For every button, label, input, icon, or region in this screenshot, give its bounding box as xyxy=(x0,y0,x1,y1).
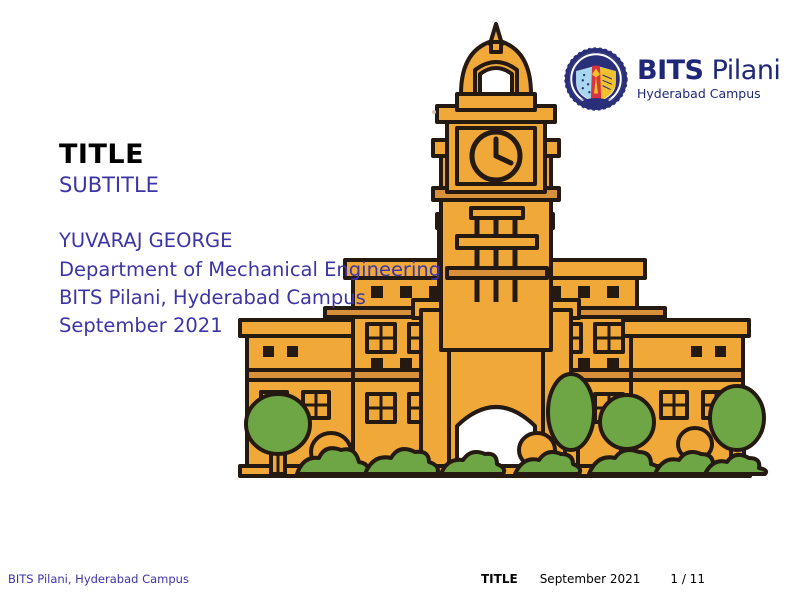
author-block: YUVARAJ GEORGE Department of Mechanical … xyxy=(59,227,479,340)
logo-wordmark: BITS Pilani Hyderabad Campus xyxy=(637,57,780,101)
footer-title: TITLE xyxy=(481,572,518,586)
footer-page-number: 1 / 11 xyxy=(670,572,705,586)
author-name: YUVARAJ GEORGE xyxy=(59,227,479,255)
logo-brand-pilani: Pilani xyxy=(704,55,781,86)
footer-date: September 2021 xyxy=(540,572,641,586)
page-title: TITLE xyxy=(59,140,479,169)
logo-brand-line: BITS Pilani xyxy=(637,57,780,84)
page-subtitle: SUBTITLE xyxy=(59,172,479,198)
logo-brand-bits: BITS xyxy=(637,55,704,86)
title-block: TITLE SUBTITLE YUVARAJ GEORGE Department… xyxy=(59,140,479,340)
author-institution: BITS Pilani, Hyderabad Campus xyxy=(59,284,479,312)
footer-institution: BITS Pilani, Hyderabad Campus xyxy=(8,572,189,586)
tower-cupola-dome xyxy=(457,24,535,110)
slide-footer: BITS Pilani, Hyderabad Campus TITLE Sept… xyxy=(0,562,794,596)
presentation-date: September 2021 xyxy=(59,312,479,340)
stray-dot-artifact xyxy=(432,110,436,114)
author-department: Department of Mechanical Engineering xyxy=(59,256,479,284)
bits-pilani-logo: BITS Pilani Hyderabad Campus xyxy=(563,44,778,114)
logo-campus-label: Hyderabad Campus xyxy=(637,88,780,101)
footer-right-group: TITLE September 2021 1 / 11 xyxy=(481,572,705,586)
bits-pilani-crest-icon xyxy=(563,46,629,112)
